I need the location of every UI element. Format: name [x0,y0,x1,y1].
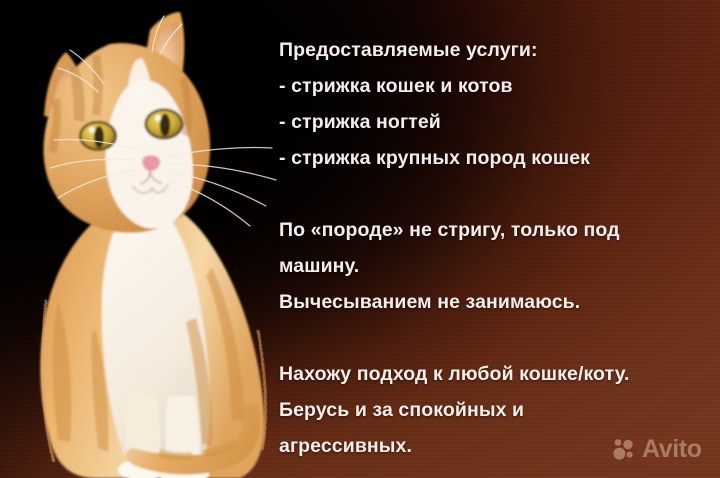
copy-line: Берусь и за спокойных и [279,392,699,428]
copy-line: Вычесыванием не занимаюсь. [279,284,699,320]
copy-line: - стрижка кошек и котов [279,68,699,104]
paragraph-services: Предоставляемые услуги: - стрижка кошек … [279,32,699,176]
copy-line: машину. [279,248,699,284]
copy-line: - стрижка крупных пород кошек [279,140,699,176]
advertisement-copy: Предоставляемые услуги: - стрижка кошек … [279,32,699,464]
paragraph-approach: Нахожу подход к любой кошке/коту. Берусь… [279,356,699,464]
copy-line: По «породе» не стригу, только под [279,212,699,248]
advertisement-card: Предоставляемые услуги: - стрижка кошек … [0,0,720,478]
copy-line: Нахожу подход к любой кошке/коту. [279,356,699,392]
paragraph-conditions: По «породе» не стригу, только под машину… [279,212,699,320]
cat-photo [0,0,285,478]
copy-line: - стрижка ногтей [279,104,699,140]
copy-line: агрессивных. [279,428,699,464]
copy-line: Предоставляемые услуги: [279,32,699,68]
